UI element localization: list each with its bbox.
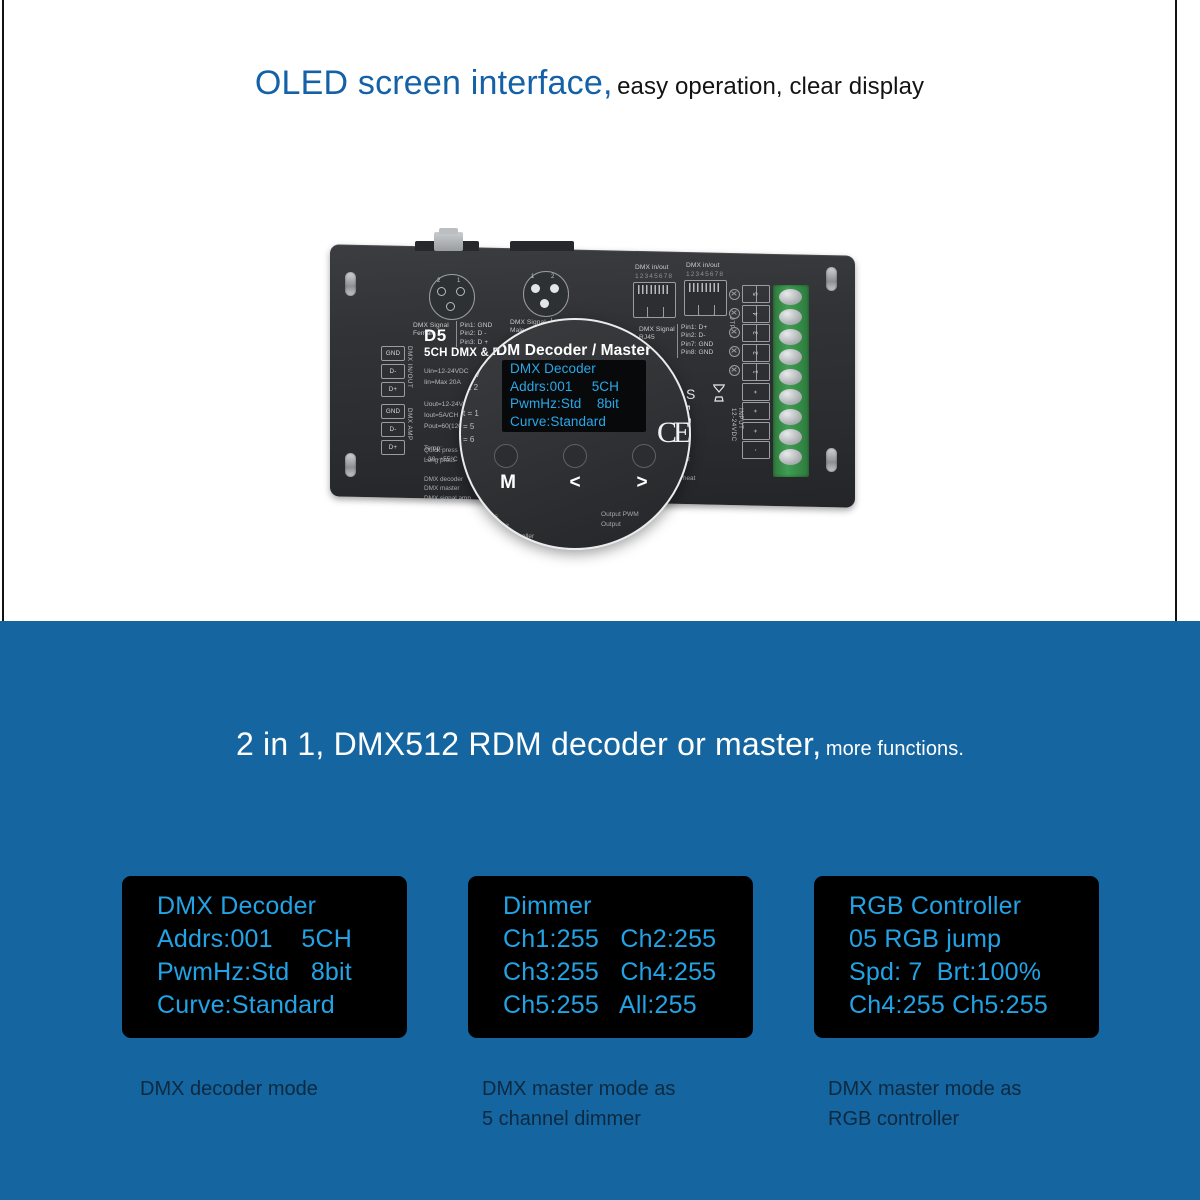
- oled-line-1: DMX Decoder: [502, 360, 646, 378]
- mode-card-caption: DMX decoder mode: [122, 1074, 407, 1104]
- page-title-sub: easy operation, clear display: [617, 73, 924, 100]
- screw-icon: [729, 365, 740, 376]
- terminal-gnd: GND: [381, 346, 405, 361]
- terminal-group-label-dmx-amp: DMX AMP: [406, 408, 413, 441]
- rj45-signal-pins: Pin1: D+ Pin2: D- Pin7: GND Pin8: GND: [681, 324, 713, 358]
- oled-line-4: Curve:Standard: [502, 413, 646, 431]
- oled-screen-rgb-controller: RGB Controller 05 RGB jump Spd: 7 Brt:10…: [814, 876, 1099, 1038]
- rj45-pin-numbers: 12345678: [686, 271, 724, 279]
- screen-line-3: Spd: 7 Brt:100%: [814, 956, 1099, 989]
- screw-icon: [729, 346, 740, 357]
- section-title-main: 2 in 1, DMX512 RDM decoder or master,: [236, 726, 821, 762]
- screen-line-3: Ch3:255 Ch4:255: [468, 956, 753, 989]
- page-title-main: OLED screen interface,: [255, 64, 613, 102]
- page-title: OLED screen interface, easy operation, c…: [4, 64, 1175, 103]
- device-button-label-row: M < >: [461, 472, 689, 494]
- output-terminal-4: 4: [742, 305, 770, 323]
- screw-icon: [729, 327, 740, 338]
- mounting-hole: [345, 453, 356, 477]
- magnified-spec-text: -24V ax 2 t = 1 = 5 = 6: [463, 368, 480, 446]
- magnifier-lens: & RDM Decoder / Master -24V ax 2 t = 1 =…: [459, 318, 691, 550]
- oled-screen-dmx-decoder: DMX Decoder Addrs:001 5CH PwmHz:Std 8bit…: [122, 876, 407, 1038]
- mode-card-caption: DMX master mode as 5 channel dimmer: [468, 1074, 753, 1134]
- mode-card-rgb-controller: RGB Controller 05 RGB jump Spd: 7 Brt:10…: [814, 876, 1099, 1134]
- screen-line-1: Dimmer: [468, 890, 753, 923]
- terminal-dminus: D-: [381, 364, 405, 379]
- top-white-section: OLED screen interface, easy operation, c…: [2, 0, 1177, 621]
- input-section-label: INPUT 12-24VDC: [730, 408, 744, 442]
- screen-line-4: Ch5:255 All:255: [468, 989, 753, 1022]
- screen-line-2: Ch1:255 Ch2:255: [468, 923, 753, 956]
- input-terminal-plus: +: [742, 422, 770, 440]
- screen-line-2: 05 RGB jump: [814, 923, 1099, 956]
- mode-card-dimmer: Dimmer Ch1:255 Ch2:255 Ch3:255 Ch4:255 C…: [468, 876, 753, 1134]
- input-terminal-plus: +: [742, 402, 770, 420]
- mounting-hole: [345, 272, 356, 296]
- bottom-blue-section: 2 in 1, DMX512 RDM decoder or master, mo…: [0, 621, 1200, 1200]
- terminal-gnd: GND: [381, 404, 405, 419]
- screen-line-4: Curve:Standard: [122, 989, 407, 1022]
- xlr-female-connector: 2 1: [429, 274, 475, 320]
- device-top-tab: [510, 241, 574, 251]
- product-device-photo: 2 1 DMX Signal Female Pin1: GND Pin2: D …: [330, 238, 870, 518]
- input-terminal-plus: +: [742, 383, 770, 401]
- rj45-label-2: DMX in/out: [686, 262, 720, 270]
- mode-card-list: DMX Decoder Addrs:001 5CH PwmHz:Std 8bit…: [0, 876, 1200, 1176]
- screw-icon: [729, 308, 740, 319]
- rj45-pin-numbers: 12345678: [635, 273, 673, 281]
- green-terminal-block: [773, 285, 809, 477]
- terminal-dplus: D+: [381, 382, 405, 397]
- next-button[interactable]: [632, 444, 656, 468]
- magnified-bottom-right-text: Output PWM Output: [601, 510, 639, 530]
- output-terminal-3: 3: [742, 324, 770, 342]
- rj45-label-1: DMX in/out: [635, 264, 669, 272]
- usb-connector-nub: [434, 232, 463, 251]
- screw-icon: [729, 289, 740, 300]
- terminal-dplus: D+: [381, 440, 405, 455]
- output-terminal-column: 5 4 3 2 1 + + + -: [742, 285, 772, 461]
- input-terminal-minus: -: [742, 441, 770, 459]
- divider: [677, 324, 678, 358]
- screen-line-4: Ch4:255 Ch5:255: [814, 989, 1099, 1022]
- terminal-dminus: D-: [381, 422, 405, 437]
- terminal-group-label-dmx-inout: DMX IN/OUT: [406, 346, 413, 388]
- output-terminal-1: 1: [742, 363, 770, 381]
- oled-line-3: PwmHz:Std 8bit: [502, 395, 646, 413]
- rohs-mark-icon: S: [686, 386, 695, 402]
- magnified-bottom-text: 3s / 16bit RGB controller: [491, 512, 534, 542]
- oled-screen-dimmer: Dimmer Ch1:255 Ch2:255 Ch3:255 Ch4:255 C…: [468, 876, 753, 1038]
- mounting-hole: [826, 267, 837, 291]
- rj45-port-1: [633, 282, 676, 318]
- device-button-row: [461, 444, 689, 468]
- screen-line-1: RGB Controller: [814, 890, 1099, 923]
- output-terminal-5: 5: [742, 285, 770, 303]
- section-title: 2 in 1, DMX512 RDM decoder or master, mo…: [0, 726, 1200, 763]
- mode-button-label: M: [497, 472, 519, 494]
- mode-card-dmx-decoder: DMX Decoder Addrs:001 5CH PwmHz:Std 8bit…: [122, 876, 407, 1104]
- xlr-male-connector: 1 2: [523, 271, 569, 317]
- rj45-port-2: [684, 280, 727, 316]
- next-button-label: >: [631, 472, 653, 494]
- screen-line-2: Addrs:001 5CH: [122, 923, 407, 956]
- oled-line-2: Addrs:001 5CH: [502, 378, 646, 396]
- mode-card-caption: DMX master mode as RGB controller: [814, 1074, 1099, 1134]
- output-terminal-2: 2: [742, 344, 770, 362]
- device-oled-screen: DMX Decoder Addrs:001 5CH PwmHz:Std 8bit…: [502, 360, 646, 432]
- section-title-sub: more functions.: [826, 738, 964, 760]
- screen-line-3: PwmHz:Std 8bit: [122, 956, 407, 989]
- previous-button[interactable]: [563, 444, 587, 468]
- device-model-name: D5: [424, 326, 447, 346]
- mode-button[interactable]: [494, 444, 518, 468]
- mounting-hole: [826, 448, 837, 472]
- previous-button-label: <: [564, 472, 586, 494]
- screen-line-1: DMX Decoder: [122, 890, 407, 923]
- weee-bin-icon: [712, 384, 726, 402]
- divider: [456, 321, 457, 347]
- magnified-model-description: & RDM Decoder / Master: [469, 342, 651, 360]
